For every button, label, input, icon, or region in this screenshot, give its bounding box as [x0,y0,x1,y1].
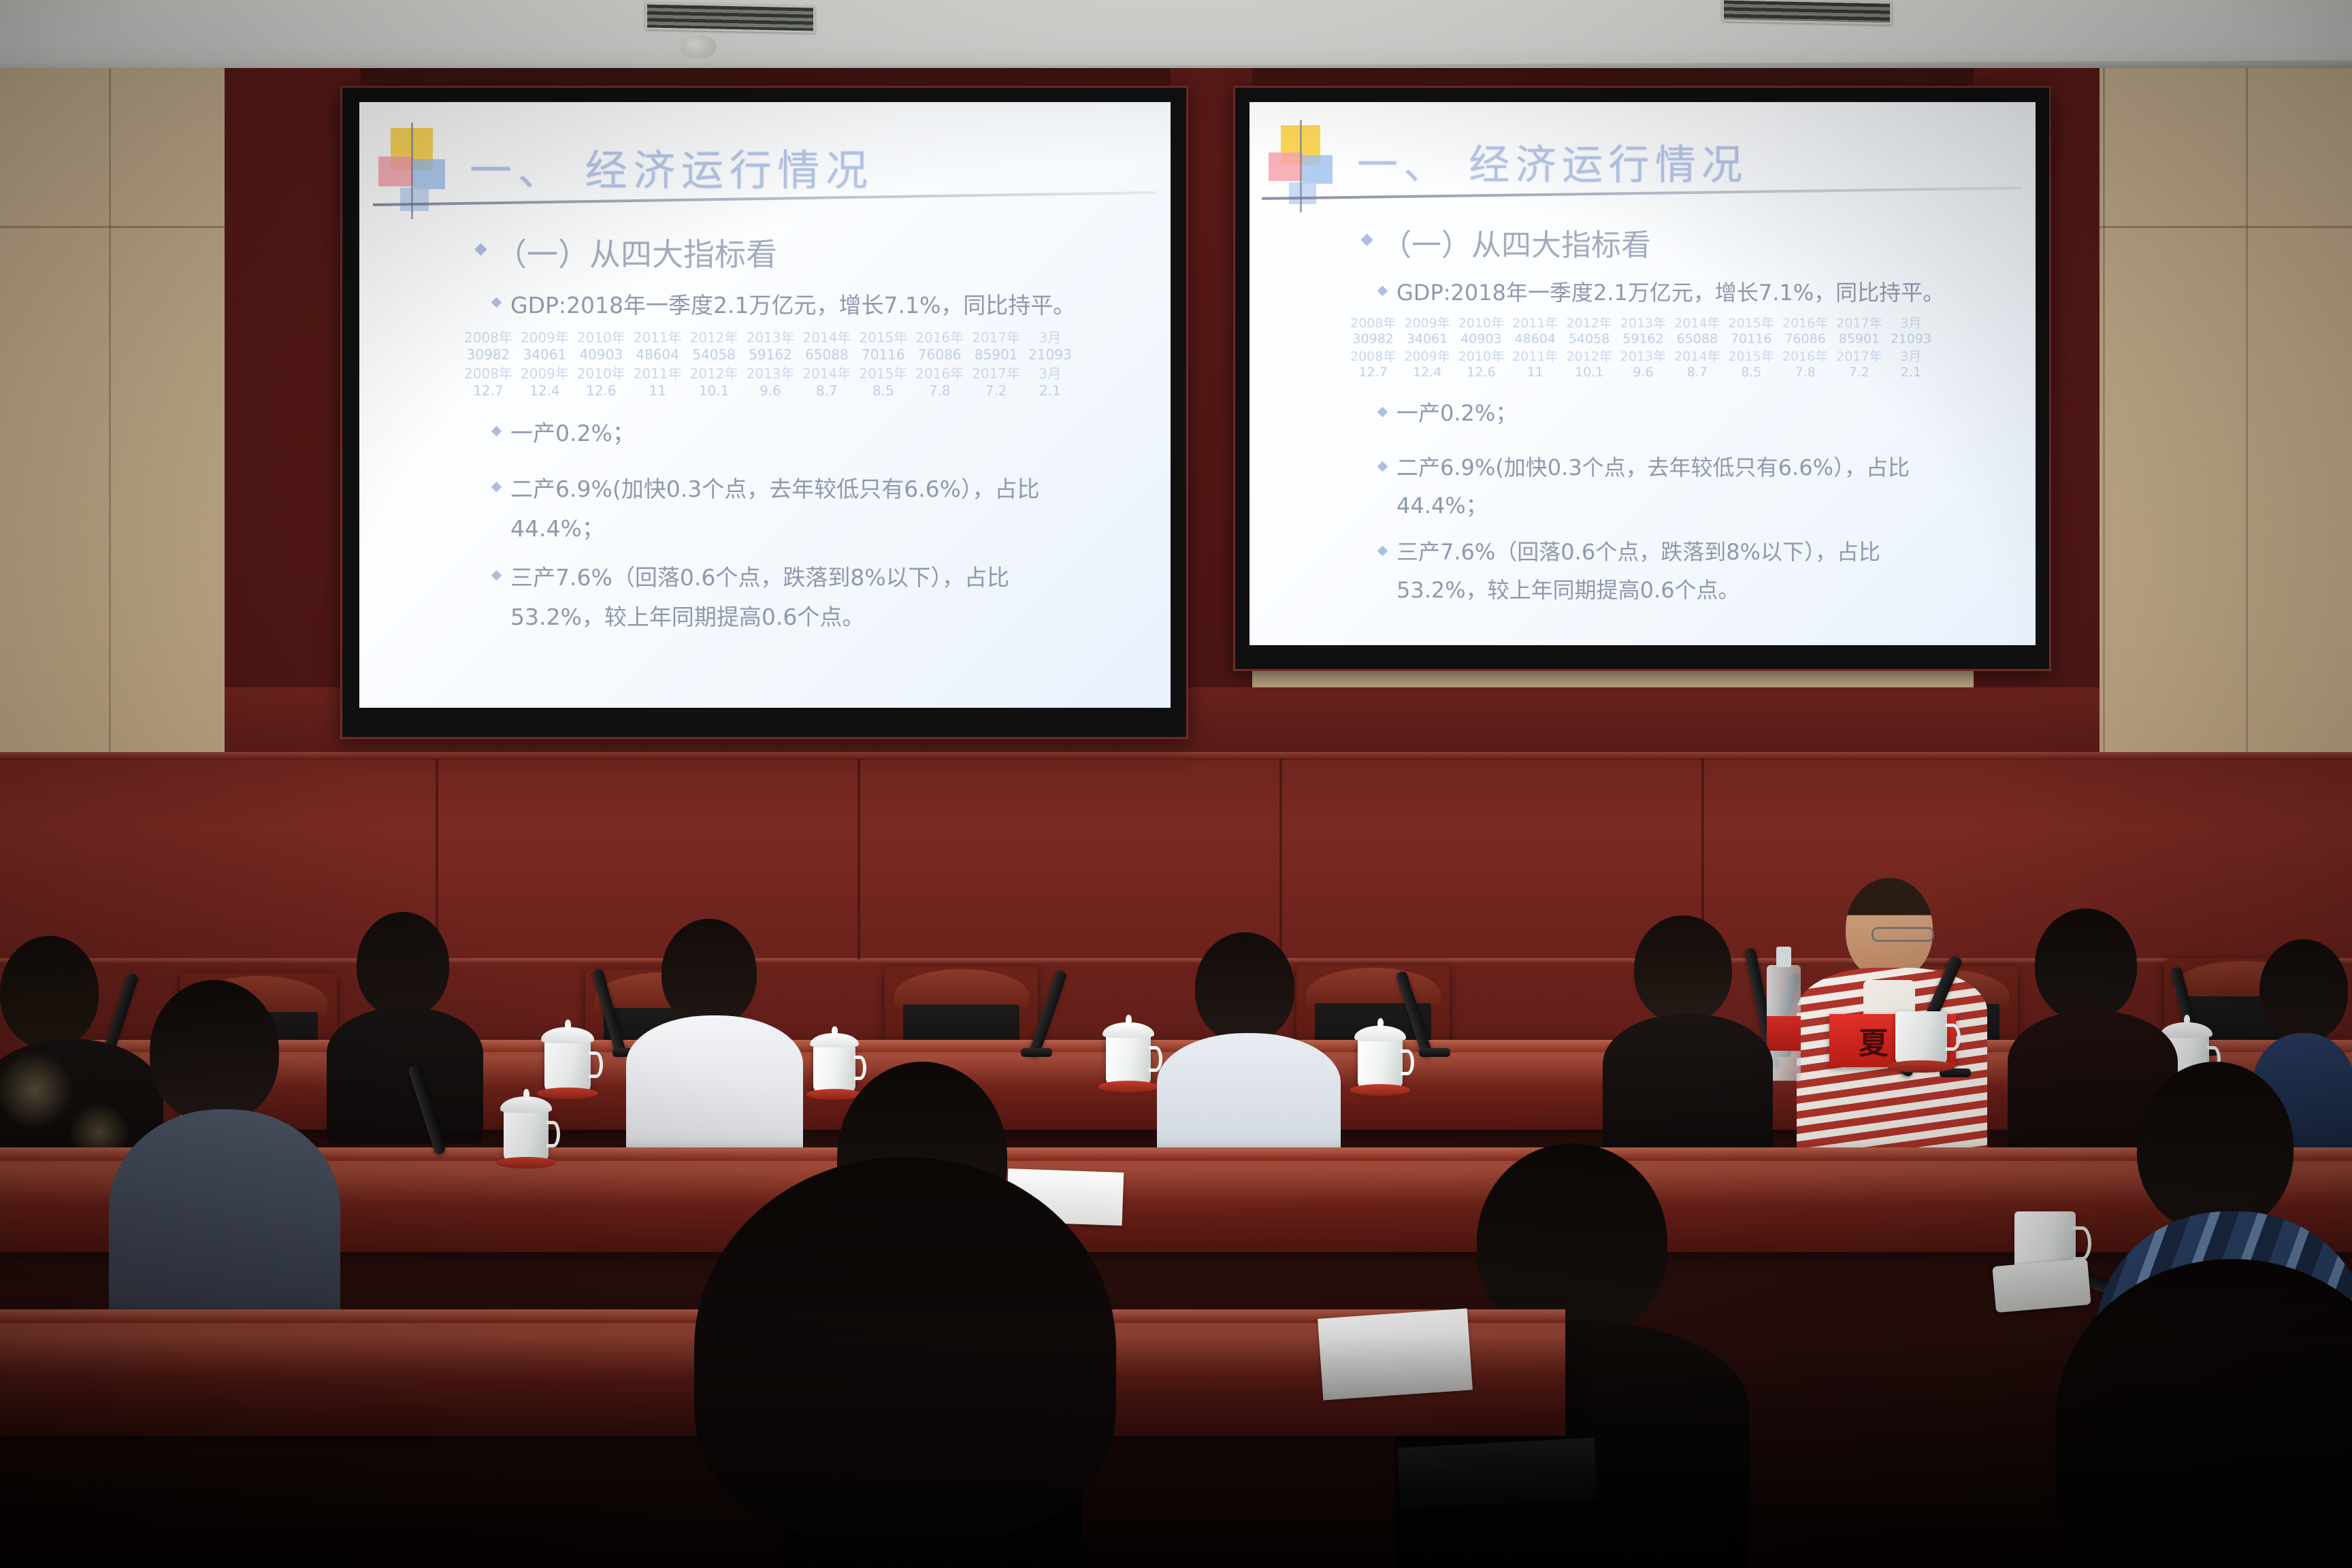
slide-bullet-3-cont: 53.2%，较上年同期提高0.6个点。 [1396,573,1740,604]
teacup-mug [1895,1011,1947,1066]
air-vent-icon [645,2,815,33]
slide-bullet-2: 二产6.9%(加快0.3个点，去年较低只有6.6%），占比 [1396,451,1910,482]
bullet-icon [491,297,502,308]
slide-logo-mark [1266,120,1365,219]
audience-person [327,912,483,1137]
audience-person [1157,932,1341,1177]
bullet-icon [1377,461,1388,472]
slide-right: 一、 经济运行情况 （一）从四大指标看 GDP:2018年一季度2.1万亿元，增… [1249,102,2036,645]
table-row: 2008年 2009年 2010年 2011年 2012年 2013年 2014… [1346,313,1935,331]
smoke-detector-icon [681,35,716,59]
slide-subtitle: （一）从四大指标看 [1382,220,1651,264]
bullet-icon [1377,286,1388,297]
table-row: 30982 34061 40903 48604 54058 59162 6508… [460,346,1076,363]
slide-bullet-1: 一产0.2%； [1396,396,1517,427]
slide-gdp-line: GDP:2018年一季度2.1万亿元，增长7.1%，同比持平。 [510,287,1075,320]
bullet-icon [1360,233,1373,246]
bullet-icon [491,426,502,437]
slide-bullet-1: 一产0.2%； [510,415,635,448]
bullet-icon [474,243,487,255]
foreground-person [599,1157,1211,1568]
wainscot-rail-upper [0,752,2352,760]
laptop [1397,1437,1597,1509]
table-row: 12.7 12.4 12.6 11 10.1 9.6 8.7 8.5 7.8 7… [460,382,1076,399]
teacup [1106,1034,1151,1086]
table-row: 30982 34061 40903 48604 54058 59162 6508… [1346,331,1935,346]
foreground-person [2014,1259,2352,1568]
table-row: 2008年 2009年 2010年 2011年 2012年 2013年 2014… [460,363,1076,382]
bullet-icon [491,482,502,493]
teacup [544,1040,591,1093]
slide-left: 一、 经济运行情况 （一）从四大指标看 GDP:2018年一季度2.1万亿元，增… [359,102,1171,708]
slide-bullet-2: 二产6.9%(加快0.3个点，去年较低只有6.6%），占比 [510,471,1040,504]
teacup [504,1109,549,1162]
table-row: 2008年 2009年 2010年 2011年 2012年 2013年 2014… [1346,346,1935,365]
air-vent-icon [1722,0,1892,25]
bullet-icon [1377,407,1388,418]
teacup [1358,1038,1403,1090]
slide-bullet-2-cont: 44.4%； [1396,489,1488,520]
gdp-table: 2008年 2009年 2010年 2011年 2012年 2013年 2014… [460,327,1076,399]
slide-bullet-3-cont: 53.2%，较上年同期提高0.6个点。 [510,599,864,632]
audience-person [1603,915,1773,1160]
presenter-glasses-icon [1872,927,1934,942]
gdp-table: 2008年 2009年 2010年 2011年 2012年 2013年 2014… [1346,313,1935,380]
audience-person [626,919,803,1157]
table-row: 12.7 12.4 12.6 11 10.1 9.6 8.7 8.5 7.8 7… [1346,365,1935,380]
bullet-icon [491,570,502,581]
slide-bullet-2-cont: 44.4%； [510,510,604,543]
slide-gdp-line: GDP:2018年一季度2.1万亿元，增长7.1%，同比持平。 [1396,276,1944,307]
slide-logo-mark [376,122,478,225]
table-row: 2008年 2009年 2010年 2011年 2012年 2013年 2014… [460,327,1076,346]
document-paper [1318,1308,1473,1400]
slide-title: 一、 经济运行情况 [1357,132,1748,191]
photo-scene: 一、 经济运行情况 （一）从四大指标看 GDP:2018年一季度2.1万亿元，增… [0,0,2352,1568]
slide-subtitle: （一）从四大指标看 [495,230,777,275]
slide-title: 一、 经济运行情况 [470,136,874,197]
slide-bullet-3: 三产7.6%（回落0.6个点，跌落到8%以下），占比 [510,559,1009,592]
slide-bullet-3: 三产7.6%（回落0.6个点，跌落到8%以下），占比 [1396,535,1880,566]
bullet-icon [1377,546,1388,557]
